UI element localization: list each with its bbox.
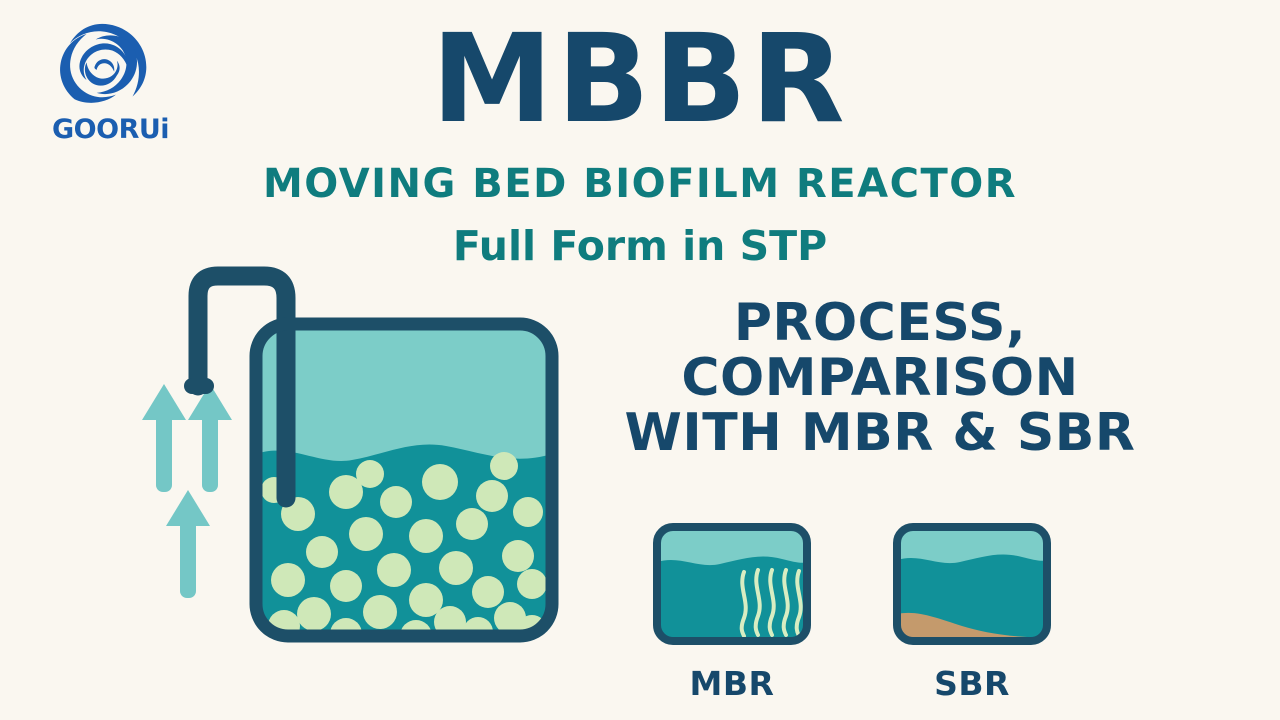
headline-line-3: WITH MBR & SBR	[600, 406, 1160, 461]
headline-line-2: COMPARISON	[600, 351, 1160, 406]
sbr-label: SBR	[892, 664, 1052, 703]
tank-contents	[256, 324, 552, 652]
mbr-reactor-diagram	[652, 522, 812, 646]
infographic-canvas: GOORUi MBBR MOVING BED BIOFILM REACTOR F…	[0, 0, 1280, 720]
page-title: MBBR	[0, 18, 1280, 140]
aeration-arrow	[166, 490, 210, 598]
sbr-reactor-diagram	[892, 522, 1052, 646]
headline-line-1: PROCESS,	[600, 296, 1160, 351]
aeration-arrows	[142, 384, 232, 598]
mbbr-tank-diagram	[140, 240, 580, 660]
aeration-arrow	[188, 384, 232, 492]
mbr-label: MBR	[652, 664, 812, 703]
subtitle-full-form: MOVING BED BIOFILM REACTOR	[0, 164, 1280, 204]
aeration-arrow	[142, 384, 186, 492]
inlet-pipe-cap	[184, 378, 214, 394]
headline-block: PROCESS, COMPARISON WITH MBR & SBR	[600, 296, 1160, 461]
